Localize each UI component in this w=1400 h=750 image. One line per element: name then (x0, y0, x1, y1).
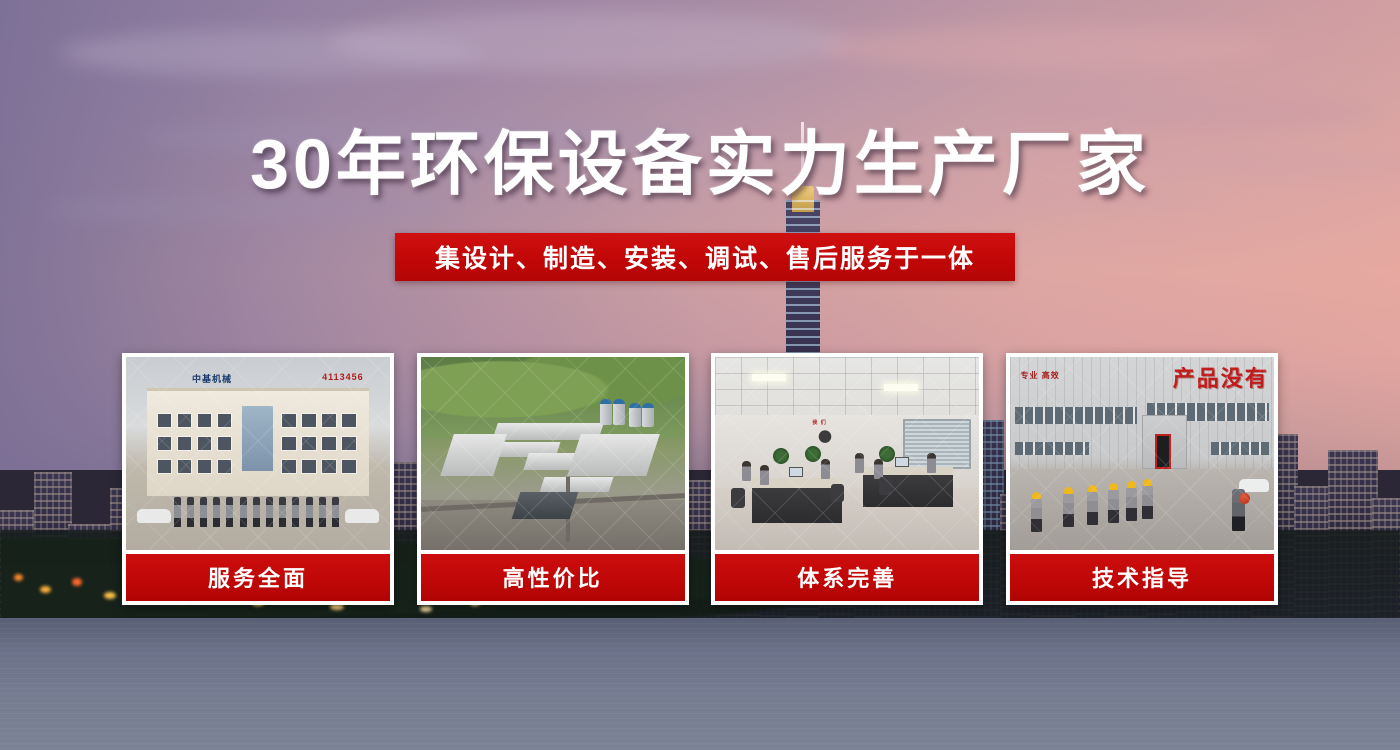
factory-workers-photo: 产品没有 专业 高效 (1010, 357, 1274, 550)
wall-decal: 我 们 (810, 421, 840, 447)
building-sign-text: 中基机械 (192, 372, 232, 385)
feature-card[interactable]: 高性价比 (417, 353, 689, 605)
feature-card[interactable]: 产品没有 专业 高效 技术指导 (1006, 353, 1278, 605)
red-helmet (1239, 493, 1250, 504)
card-caption: 体系完善 (715, 554, 979, 601)
company-headquarters-photo: 中基机械 4113456 (126, 357, 390, 550)
banner-stage: 30年环保设备实力生产厂家 集设计、制造、安装、调试、售后服务于一体 (0, 0, 1400, 750)
feature-card[interactable]: 中基机械 4113456 服务全面 (122, 353, 394, 605)
subtitle-banner: 集设计、制造、安装、调试、售后服务于一体 (395, 233, 1015, 281)
aerial-production-plant-photo (421, 357, 685, 550)
page-title: 30年环保设备实力生产厂家 (0, 128, 1400, 202)
office-interior-photo: 我 们 (715, 357, 979, 550)
river-water (0, 618, 1400, 750)
card-caption: 服务全面 (126, 554, 390, 601)
building-phone-text: 4113456 (322, 372, 364, 382)
card-caption: 高性价比 (421, 554, 685, 601)
feature-card-list: 中基机械 4113456 服务全面 (122, 353, 1278, 605)
card-caption: 技术指导 (1010, 554, 1274, 601)
feature-card[interactable]: 我 们 (711, 353, 983, 605)
factory-sign-text: 产品没有 (1173, 361, 1269, 393)
factory-small-sign-text: 专业 高效 (1021, 370, 1060, 381)
